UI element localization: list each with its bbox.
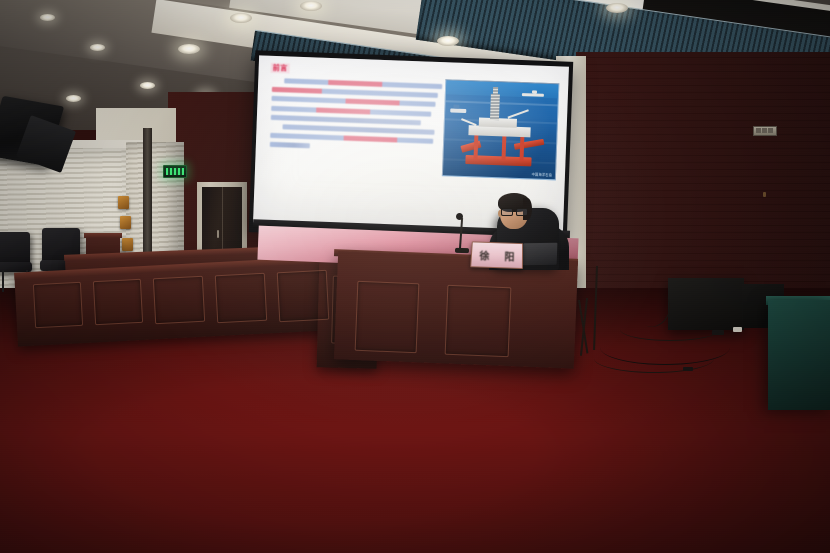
downlight-1 [40, 14, 55, 21]
slide-text-line-6 [282, 124, 434, 135]
supply-vessel-icon [450, 108, 466, 113]
slide-text-line-8 [270, 142, 310, 148]
floor-cable-3 [620, 318, 720, 341]
nameplate: 徐 阳 [470, 241, 523, 269]
microphone-base [455, 248, 469, 253]
downlight-4 [178, 44, 200, 54]
slide-text-line-4 [271, 105, 431, 116]
slide-body-text [270, 78, 443, 158]
nameplate-char-1: 徐 [479, 247, 490, 262]
light-switch-plate[interactable] [753, 126, 777, 136]
power-strip[interactable] [733, 327, 742, 332]
conference-hall-photo: 前言 [0, 0, 830, 553]
downlight-3 [140, 82, 155, 89]
laptop[interactable] [523, 243, 558, 266]
slide-text-line-5 [271, 115, 421, 125]
slide-photo-offshore-rig: 中国海洋石油 [442, 79, 559, 180]
wall-ornament-2 [120, 216, 131, 229]
green-table [768, 300, 830, 410]
chair-1[interactable] [0, 232, 30, 266]
wall-ornament-3 [122, 238, 133, 251]
microphone-icon [456, 213, 463, 220]
exit-sign-icon [163, 165, 187, 178]
wall-ornament-1 [118, 196, 129, 209]
floor-cable-2 [594, 344, 714, 373]
downlight-9 [437, 36, 459, 46]
glasses-icon [501, 208, 527, 214]
slide-photo-caption: 中国海洋石油 [532, 171, 552, 177]
nameplate-char-2: 阳 [504, 248, 514, 263]
slide-title: 前言 [271, 63, 290, 74]
downlight-6 [300, 1, 322, 11]
wall-fixture [763, 192, 766, 197]
slide-text-line-3 [271, 96, 435, 107]
door-handle[interactable] [217, 230, 219, 238]
downlight-5 [230, 13, 252, 23]
downlight-2 [90, 44, 105, 51]
downlight-7 [66, 95, 81, 102]
downlight-10 [606, 3, 628, 13]
